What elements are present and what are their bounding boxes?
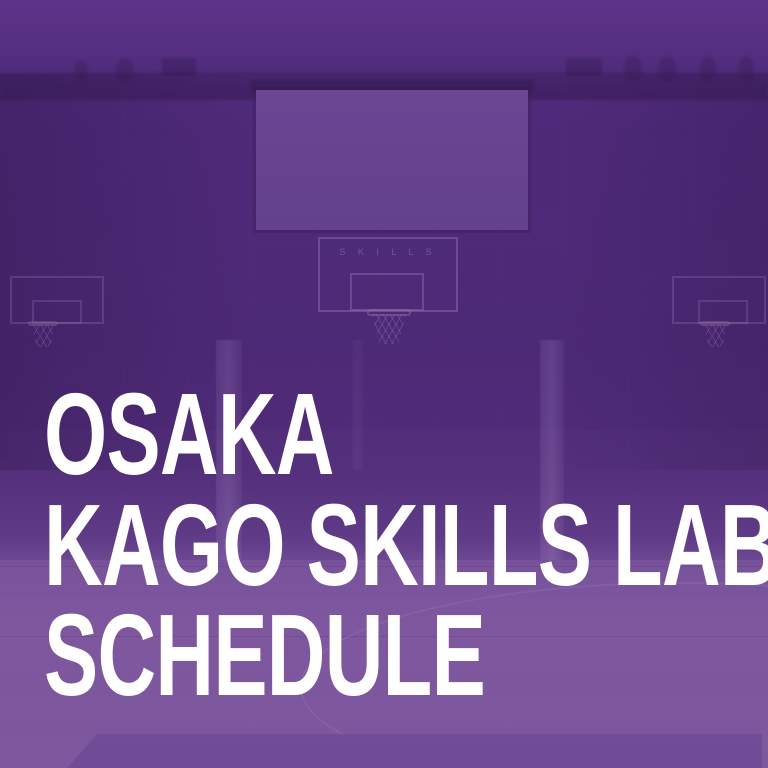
poster-title-block: OSAKA KAGO SKILLS LABO SCHEDULE [44,379,768,710]
title-line-1: OSAKA [44,379,768,489]
title-line-2: KAGO SKILLS LABO [44,490,768,600]
title-line-3: SCHEDULE [44,600,768,710]
poster-image: S K I L L S OSAKA KAGO SKILLS L [0,0,768,768]
